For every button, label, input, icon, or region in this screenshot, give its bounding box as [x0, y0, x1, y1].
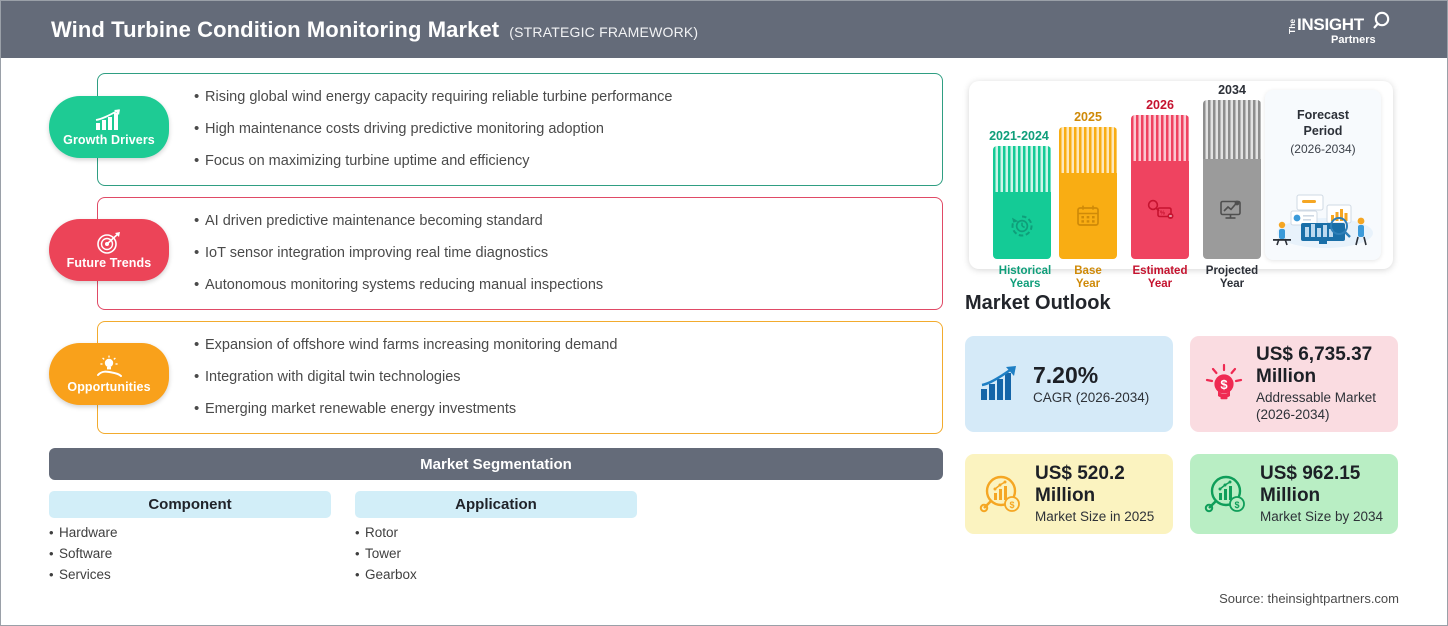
- lightbulb-dollar-icon: $: [1204, 363, 1244, 405]
- list-item: • Hardware: [49, 525, 118, 540]
- list-item: • IoT sensor integration improving real …: [194, 244, 924, 263]
- calendar-icon: [1059, 173, 1117, 259]
- bullet-text: Rising global wind energy capacity requi…: [205, 88, 924, 107]
- segment-list-application: • Rotor • Tower • Gearbox: [355, 525, 417, 588]
- panel-future-trends: • AI driven predictive maintenance becom…: [97, 197, 943, 310]
- list-item: • High maintenance costs driving predict…: [194, 120, 924, 139]
- svg-text:%: %: [1160, 211, 1165, 217]
- page-header: Wind Turbine Condition Monitoring Market…: [1, 1, 1448, 58]
- segment-item-label: Gearbox: [365, 567, 417, 582]
- badge-label: Opportunities: [67, 380, 150, 394]
- insight-partners-logo: The INSIGHT Partners: [1281, 10, 1401, 50]
- market-segmentation-header: Market Segmentation: [49, 448, 943, 480]
- segment-item-label: Services: [59, 567, 111, 582]
- kpi-card-market-size-2025: $ US$ 520.2 Million Market Size in 2025: [965, 454, 1173, 534]
- kpi-value-line-2: Million: [1260, 485, 1383, 507]
- kpi-text: US$ 6,735.37 Million Addressable Market …: [1256, 344, 1376, 424]
- timeline-bar-caption: Historical Years: [993, 265, 1057, 291]
- estimate-analytics-icon: %: [1131, 161, 1189, 259]
- lightbulb-hand-icon: [94, 355, 124, 379]
- kpi-label-line-1: Addressable Market: [1256, 389, 1376, 407]
- bullet-dot: •: [194, 368, 205, 387]
- timeline-bar-caption: Estimated Year: [1131, 265, 1189, 291]
- bullet-text: AI driven predictive maintenance becomin…: [205, 212, 924, 231]
- bullet-dot: •: [194, 88, 205, 107]
- bar-stripe-pattern: [1059, 127, 1117, 173]
- source-attribution: Source: theinsightpartners.com: [1219, 591, 1399, 606]
- badge-future-trends[interactable]: Future Trends: [49, 219, 169, 281]
- caption-line-1: Base: [1059, 265, 1117, 278]
- list-item: • Rotor: [355, 525, 417, 540]
- bullet-text: IoT sensor integration improving real ti…: [205, 244, 924, 263]
- timeline-bar-year: 2034: [1203, 83, 1261, 97]
- kpi-value-line-2: Million: [1256, 366, 1376, 388]
- analytics-team-illustration: [1269, 187, 1377, 254]
- bar-stripe-pattern: [1131, 115, 1189, 161]
- forecast-period-title: Forecast Period: [1297, 108, 1349, 139]
- list-item: • Focus on maximizing turbine uptime and…: [194, 152, 924, 171]
- bullet-dot: •: [49, 525, 59, 540]
- kpi-text: 7.20% CAGR (2026-2034): [1033, 362, 1149, 407]
- bullet-dot: •: [355, 567, 365, 582]
- segment-item-label: Software: [59, 546, 112, 561]
- list-item: • Services: [49, 567, 118, 582]
- panel-bullet-list: • Expansion of offshore wind farms incre…: [98, 322, 942, 433]
- forecast-period-panel: Forecast Period (2026-2034): [1265, 90, 1381, 260]
- bullet-dot: •: [194, 120, 205, 139]
- caption-line-2: Year: [1203, 278, 1261, 291]
- forecast-timeline-card: 2021-2024 Historical: [969, 81, 1393, 269]
- bar-stripe-pattern: [1203, 100, 1261, 159]
- kpi-label: Market Size by 2034: [1260, 508, 1383, 526]
- timeline-bars: 2021-2024 Historical: [969, 81, 1265, 269]
- svg-text:Partners: Partners: [1331, 34, 1376, 46]
- list-item: • Software: [49, 546, 118, 561]
- timeline-bar-year: 2025: [1059, 110, 1117, 124]
- caption-line-1: Projected: [1203, 265, 1261, 278]
- timeline-bar-body: %: [1131, 115, 1189, 259]
- badge-growth-drivers[interactable]: Growth Drivers: [49, 96, 169, 158]
- forecast-title-line-1: Forecast: [1297, 108, 1349, 124]
- bullet-dot: •: [194, 152, 205, 171]
- svg-text:$: $: [1234, 500, 1239, 510]
- timeline-bar-estimated: 2026 % Estimate: [1131, 98, 1189, 291]
- magnifier-chart-dollar-green-icon: $: [1204, 473, 1248, 515]
- bullet-dot: •: [49, 546, 59, 561]
- magnifier-chart-dollar-orange-icon: $: [979, 473, 1023, 515]
- timeline-bar-caption: Projected Year: [1203, 265, 1261, 291]
- timeline-bar-projected: 2034 Projected Year: [1203, 83, 1261, 291]
- segment-header-label: Component: [148, 496, 231, 513]
- header-title-group: Wind Turbine Condition Monitoring Market…: [51, 17, 698, 43]
- bullet-dot: •: [355, 546, 365, 561]
- bullet-dot: •: [194, 336, 205, 355]
- timeline-bar-body: [1059, 127, 1117, 259]
- timeline-bar-year: 2026: [1131, 98, 1189, 112]
- kpi-value: 7.20%: [1033, 362, 1149, 389]
- segment-column-header-component: Component: [49, 491, 331, 518]
- kpi-card-cagr: 7.20% CAGR (2026-2034): [965, 336, 1173, 432]
- bullet-dot: •: [194, 276, 205, 295]
- page-subtitle: (STRATEGIC FRAMEWORK): [509, 24, 698, 40]
- kpi-text: US$ 520.2 Million Market Size in 2025: [1035, 463, 1159, 525]
- bullet-text: Focus on maximizing turbine uptime and e…: [205, 152, 924, 171]
- list-item: • Expansion of offshore wind farms incre…: [194, 336, 924, 355]
- badge-opportunities[interactable]: Opportunities: [49, 343, 169, 405]
- caption-line-2: Year: [1059, 278, 1117, 291]
- svg-text:$: $: [1220, 377, 1228, 392]
- kpi-label: Market Size in 2025: [1035, 508, 1159, 526]
- list-item: • AI driven predictive maintenance becom…: [194, 212, 924, 231]
- list-item: • Rising global wind energy capacity req…: [194, 88, 924, 107]
- segment-item-label: Rotor: [365, 525, 398, 540]
- timeline-bar-year: 2021-2024: [981, 129, 1057, 143]
- page-title: Wind Turbine Condition Monitoring Market: [51, 17, 499, 43]
- infographic-page: Wind Turbine Condition Monitoring Market…: [0, 0, 1448, 626]
- growth-bar-chart-icon: [979, 365, 1021, 403]
- forecast-title-line-2: Period: [1297, 124, 1349, 140]
- bar-chart-arrow-icon: [94, 108, 124, 132]
- list-item: • Autonomous monitoring systems reducing…: [194, 276, 924, 295]
- list-item: • Emerging market renewable energy inves…: [194, 400, 924, 419]
- kpi-label-line-2: (2026-2034): [1256, 406, 1376, 424]
- timeline-bar-caption: Base Year: [1059, 265, 1117, 291]
- panel-bullet-list: • Rising global wind energy capacity req…: [98, 74, 942, 185]
- svg-text:$: $: [1009, 500, 1014, 510]
- bullet-text: Emerging market renewable energy investm…: [205, 400, 924, 419]
- target-dart-icon: [96, 231, 122, 255]
- svg-text:INSIGHT: INSIGHT: [1297, 15, 1365, 34]
- bullet-dot: •: [49, 567, 59, 582]
- bullet-text: Expansion of offshore wind farms increas…: [205, 336, 924, 355]
- kpi-value-line-1: US$ 6,735.37: [1256, 344, 1376, 366]
- panel-bullet-list: • AI driven predictive maintenance becom…: [98, 198, 942, 309]
- timeline-bar-historical: 2021-2024 Historical: [987, 129, 1057, 291]
- segment-column-header-application: Application: [355, 491, 637, 518]
- clock-history-icon: [993, 192, 1051, 259]
- caption-line-2: Year: [1131, 278, 1189, 291]
- bullet-text: Autonomous monitoring systems reducing m…: [205, 276, 924, 295]
- bullet-dot: •: [355, 525, 365, 540]
- segment-header-label: Application: [455, 496, 537, 513]
- caption-line-1: Historical: [993, 265, 1057, 278]
- bullet-dot: •: [194, 212, 205, 231]
- bullet-text: Integration with digital twin technologi…: [205, 368, 924, 387]
- list-item: • Tower: [355, 546, 417, 561]
- bullet-dot: •: [194, 244, 205, 263]
- timeline-bar-base: 2025: [1059, 110, 1117, 291]
- kpi-label: CAGR (2026-2034): [1033, 389, 1149, 407]
- segment-item-label: Hardware: [59, 525, 118, 540]
- panel-opportunities: • Expansion of offshore wind farms incre…: [97, 321, 943, 434]
- svg-text:The: The: [1287, 19, 1297, 34]
- badge-label: Future Trends: [67, 256, 152, 270]
- projection-screen-icon: [1203, 159, 1261, 259]
- bar-stripe-pattern: [993, 146, 1051, 192]
- kpi-card-addressable-market: $ US$ 6,735.37 Million Addressable Marke…: [1190, 336, 1398, 432]
- caption-line-2: Years: [993, 278, 1057, 291]
- timeline-bar-body: [1203, 100, 1261, 259]
- timeline-bar-body: [993, 146, 1051, 259]
- panel-growth-drivers: • Rising global wind energy capacity req…: [97, 73, 943, 186]
- kpi-card-market-size-2034: $ US$ 962.15 Million Market Size by 2034: [1190, 454, 1398, 534]
- forecast-period-range: (2026-2034): [1290, 142, 1355, 156]
- bullet-dot: •: [194, 400, 205, 419]
- list-item: • Gearbox: [355, 567, 417, 582]
- bullet-text: High maintenance costs driving predictiv…: [205, 120, 924, 139]
- badge-label: Growth Drivers: [63, 133, 155, 147]
- kpi-value-line-1: US$ 962.15: [1260, 463, 1383, 485]
- kpi-value: US$ 520.2 Million: [1035, 463, 1159, 508]
- market-outlook-title: Market Outlook: [965, 292, 1111, 315]
- market-segmentation-title: Market Segmentation: [420, 456, 572, 473]
- segment-item-label: Tower: [365, 546, 401, 561]
- list-item: • Integration with digital twin technolo…: [194, 368, 924, 387]
- kpi-text: US$ 962.15 Million Market Size by 2034: [1260, 463, 1383, 525]
- segment-list-component: • Hardware • Software • Services: [49, 525, 118, 588]
- caption-line-1: Estimated: [1131, 265, 1189, 278]
